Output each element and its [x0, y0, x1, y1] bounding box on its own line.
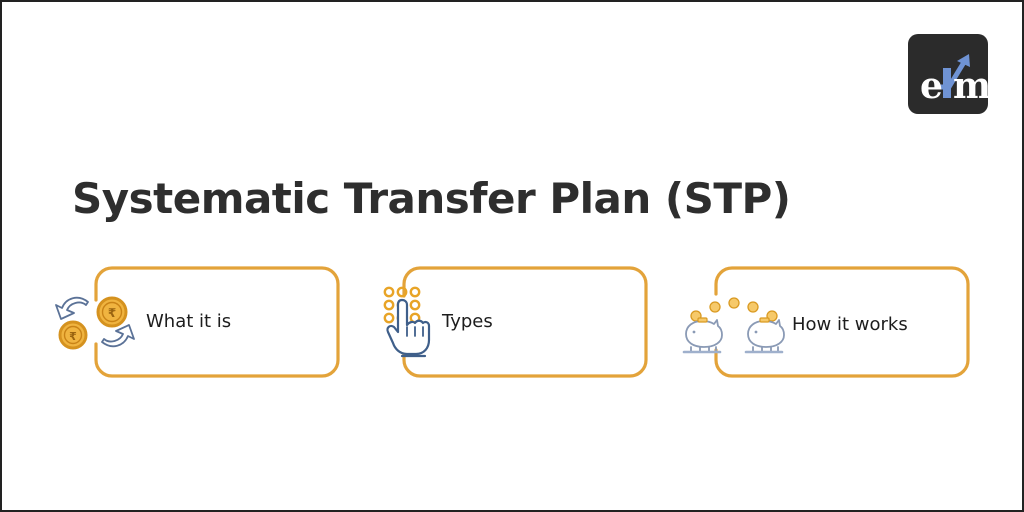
logo-letter-l: [943, 68, 951, 98]
card-label: What it is: [146, 311, 231, 332]
card-how-it-works[interactable]: How it works: [714, 266, 970, 378]
cards-row: ₹ ₹ What it is: [2, 266, 1024, 386]
card-label: Types: [442, 311, 493, 332]
card-what-it-is[interactable]: ₹ ₹ What it is: [94, 266, 340, 378]
page-title: Systematic Transfer Plan (STP): [72, 174, 790, 223]
logo-graphic: e m: [908, 34, 988, 114]
logo-letter-e: e: [920, 65, 943, 107]
elm-logo[interactable]: e m: [908, 34, 988, 114]
card-types[interactable]: Types: [402, 266, 648, 378]
card-label: How it works: [792, 314, 908, 335]
card-frame: [402, 266, 648, 378]
infographic-canvas: e m Systematic Transfer Plan (STP): [0, 0, 1024, 512]
logo-letter-m: m: [953, 65, 988, 107]
svg-text:₹: ₹: [69, 330, 77, 343]
